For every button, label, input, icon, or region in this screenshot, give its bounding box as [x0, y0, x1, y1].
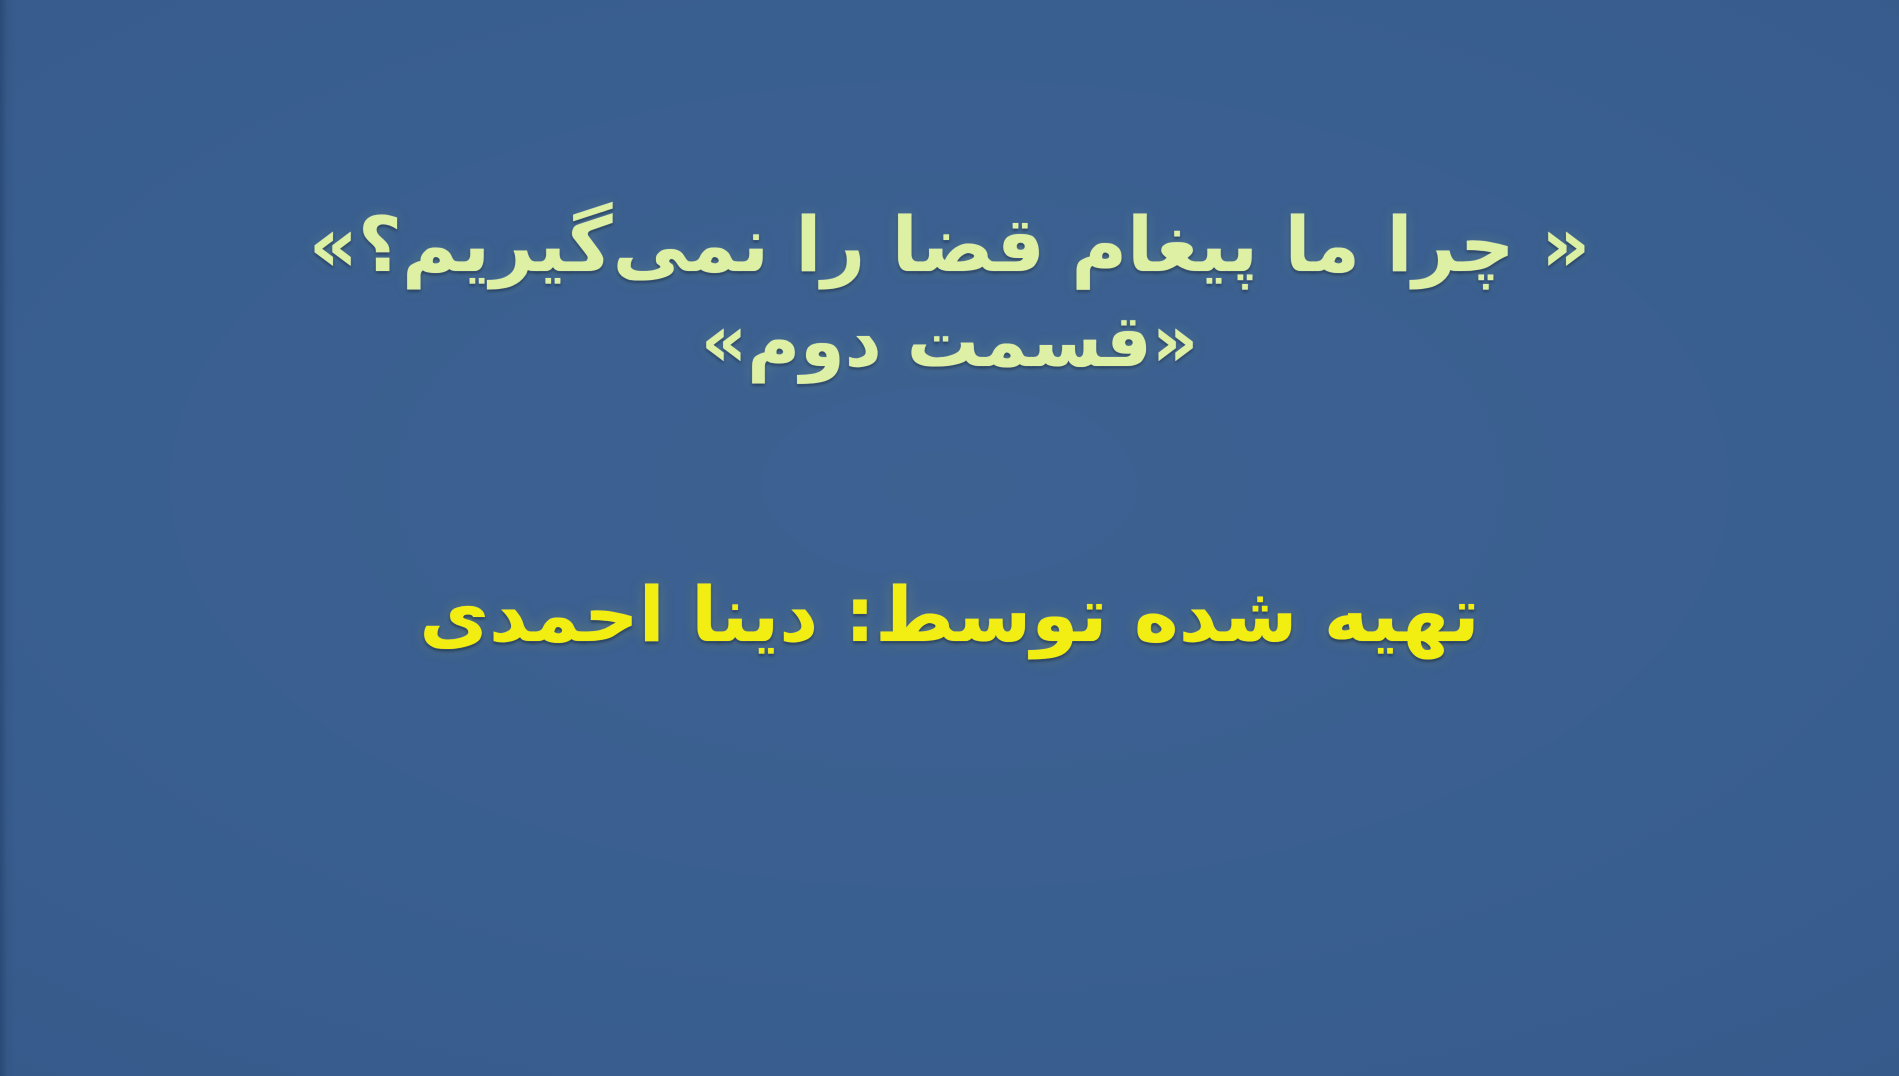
- title-line-primary: « چرا ما پیغام قضا را نمی‌گیریم؟»: [0, 196, 1899, 295]
- credit-line-author: تهیه شده توسط: دینا احمدی: [0, 566, 1899, 665]
- title-block: « چرا ما پیغام قضا را نمی‌گیریم؟» «قسمت …: [0, 196, 1899, 388]
- title-line-secondary: «قسمت دوم»: [0, 295, 1899, 389]
- video-title-slide: « چرا ما پیغام قضا را نمی‌گیریم؟» «قسمت …: [0, 0, 1899, 1076]
- credit-block: تهیه شده توسط: دینا احمدی: [0, 566, 1899, 665]
